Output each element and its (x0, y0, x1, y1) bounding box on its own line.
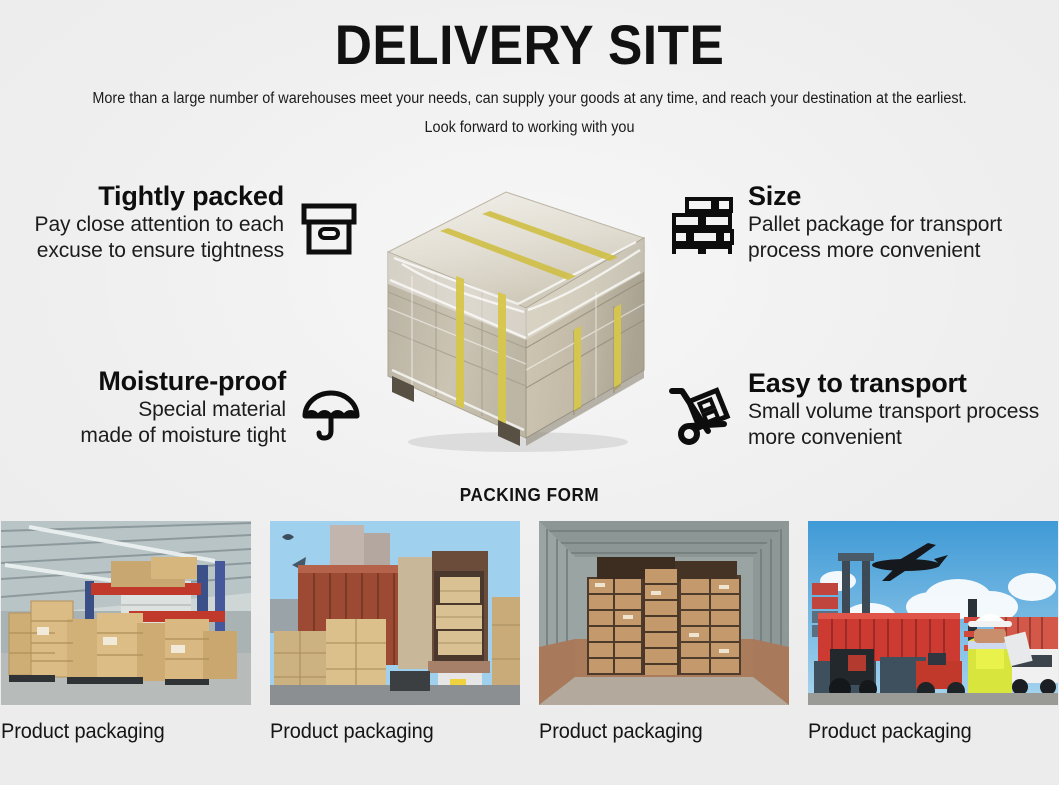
feature-body: Pallet package for transport process mor… (748, 212, 1059, 264)
feature-body: Special material made of moisture tight (10, 397, 286, 449)
logistics-yard-photo[interactable] (808, 521, 1058, 705)
hand-truck-icon (668, 383, 734, 450)
gallery-item[interactable]: Product packaging (539, 521, 789, 771)
gallery-item[interactable]: Product packaging (270, 521, 520, 771)
warehouse-storage-photo[interactable] (1, 521, 251, 705)
subtitle-line-2: Look forward to working with you (37, 118, 1022, 138)
brick-wall-icon (672, 196, 734, 259)
gallery-item[interactable]: Product packaging (808, 521, 1058, 771)
feature-heading: Size (748, 180, 1059, 212)
gallery-caption: Product packaging (539, 719, 777, 745)
delivery-site-banner: DELIVERY SITE More than a large number o… (0, 0, 1059, 785)
feature-moisture-proof: Moisture-proof Special material made of … (10, 365, 362, 450)
archive-box-icon (298, 198, 360, 265)
packing-form-gallery: Product packaging (0, 521, 1059, 771)
feature-heading: Easy to transport (748, 367, 1059, 399)
feature-heading: Moisture-proof (10, 365, 286, 397)
page-title: DELIVERY SITE (42, 16, 1016, 74)
subtitle-line-1: More than a large number of warehouses m… (37, 89, 1022, 109)
feature-heading: Tightly packed (0, 180, 284, 212)
feature-tightly-packed: Tightly packed Pay close attention to ea… (0, 180, 360, 265)
umbrella-icon (300, 383, 362, 450)
gallery-caption: Product packaging (270, 719, 508, 745)
packing-form-heading: PACKING FORM (26, 484, 1032, 506)
container-loading-photo[interactable] (270, 521, 520, 705)
container-interior-photo[interactable] (539, 521, 789, 705)
shrink-wrapped-pallet-image (378, 180, 652, 455)
feature-easy-to-transport: Easy to transport Small volume transport… (668, 367, 1059, 451)
feature-body: Small volume transport process more conv… (748, 399, 1059, 451)
feature-body: Pay close attention to each excuse to en… (0, 212, 284, 264)
gallery-item[interactable]: Product packaging (1, 521, 251, 771)
gallery-caption: Product packaging (808, 719, 1046, 745)
gallery-caption: Product packaging (1, 719, 239, 745)
feature-size: Size Pallet package for transport proces… (672, 180, 1059, 264)
